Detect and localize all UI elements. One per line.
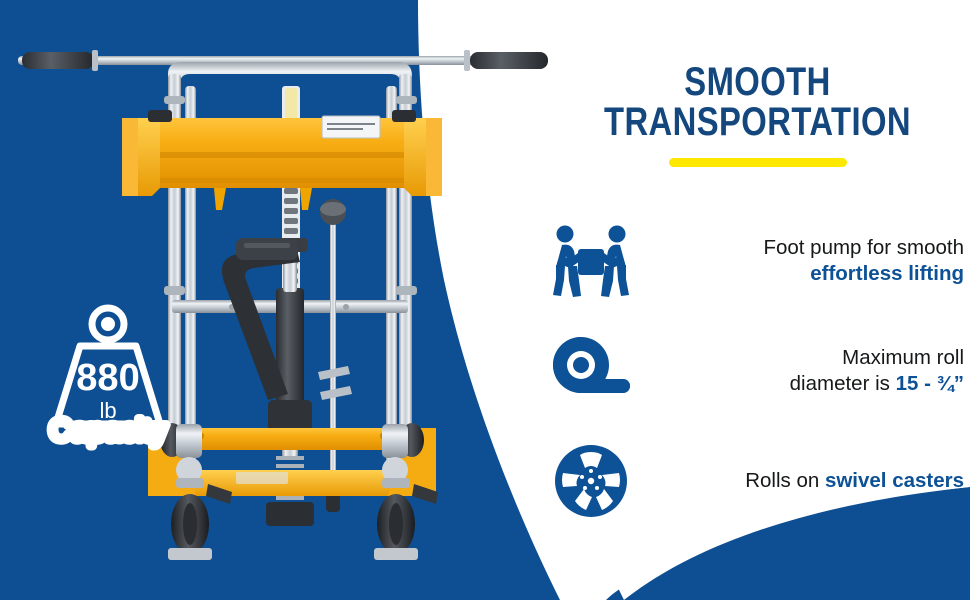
content-column: SMOOTH TRANSPORTATION (545, 0, 970, 600)
feature-roll-line-2: diameter is 15 - ¾” (637, 371, 964, 397)
two-people-carrying-box-icon (545, 215, 637, 307)
feature-list: Foot pump for smooth effortless lifting (545, 206, 970, 536)
feature-text-roll-diameter: Maximum roll diameter is 15 - ¾” (637, 345, 970, 397)
capacity-label: Capacity (50, 414, 167, 447)
title-block: SMOOTH TRANSPORTATION (545, 62, 970, 167)
capacity-badge: 880 lb Capacity Capacity (28, 298, 188, 458)
release-rod (318, 199, 352, 512)
feature-roll-line-2-plain: diameter is (790, 372, 890, 395)
feature-roll-highlight: 15 - ¾” (896, 372, 964, 395)
title-underline-bar (669, 158, 847, 167)
feature-row-casters: Rolls on swivel casters (545, 426, 970, 536)
feature-lifting-highlight: effortless lifting (637, 261, 964, 287)
page-title-line-2: TRANSPORTATION (583, 102, 932, 142)
swivel-caster-wheel-icon (545, 435, 637, 527)
capacity-decal (322, 116, 380, 138)
page-title-line-1: SMOOTH (583, 62, 932, 102)
feature-row-lifting: Foot pump for smooth effortless lifting (545, 206, 970, 316)
feature-text-casters: Rolls on swivel casters (637, 468, 970, 494)
feature-row-roll-diameter: Maximum roll diameter is 15 - ¾” (545, 316, 970, 426)
feature-text-lifting: Foot pump for smooth effortless lifting (637, 235, 970, 287)
feature-casters-highlight: swivel casters (825, 469, 964, 492)
feature-casters-line: Rolls on swivel casters (637, 468, 964, 494)
feature-casters-plain: Rolls on (745, 469, 819, 492)
feature-lifting-line-1: Foot pump for smooth (637, 235, 964, 261)
weight-icon-knob (101, 317, 115, 331)
paper-roll-icon (545, 325, 637, 417)
infographic-canvas: 880 lb Capacity Capacity SMOOTH TRANSPOR… (0, 0, 970, 600)
feature-roll-line-1: Maximum roll (637, 345, 964, 371)
capacity-value: 880 (76, 357, 139, 399)
